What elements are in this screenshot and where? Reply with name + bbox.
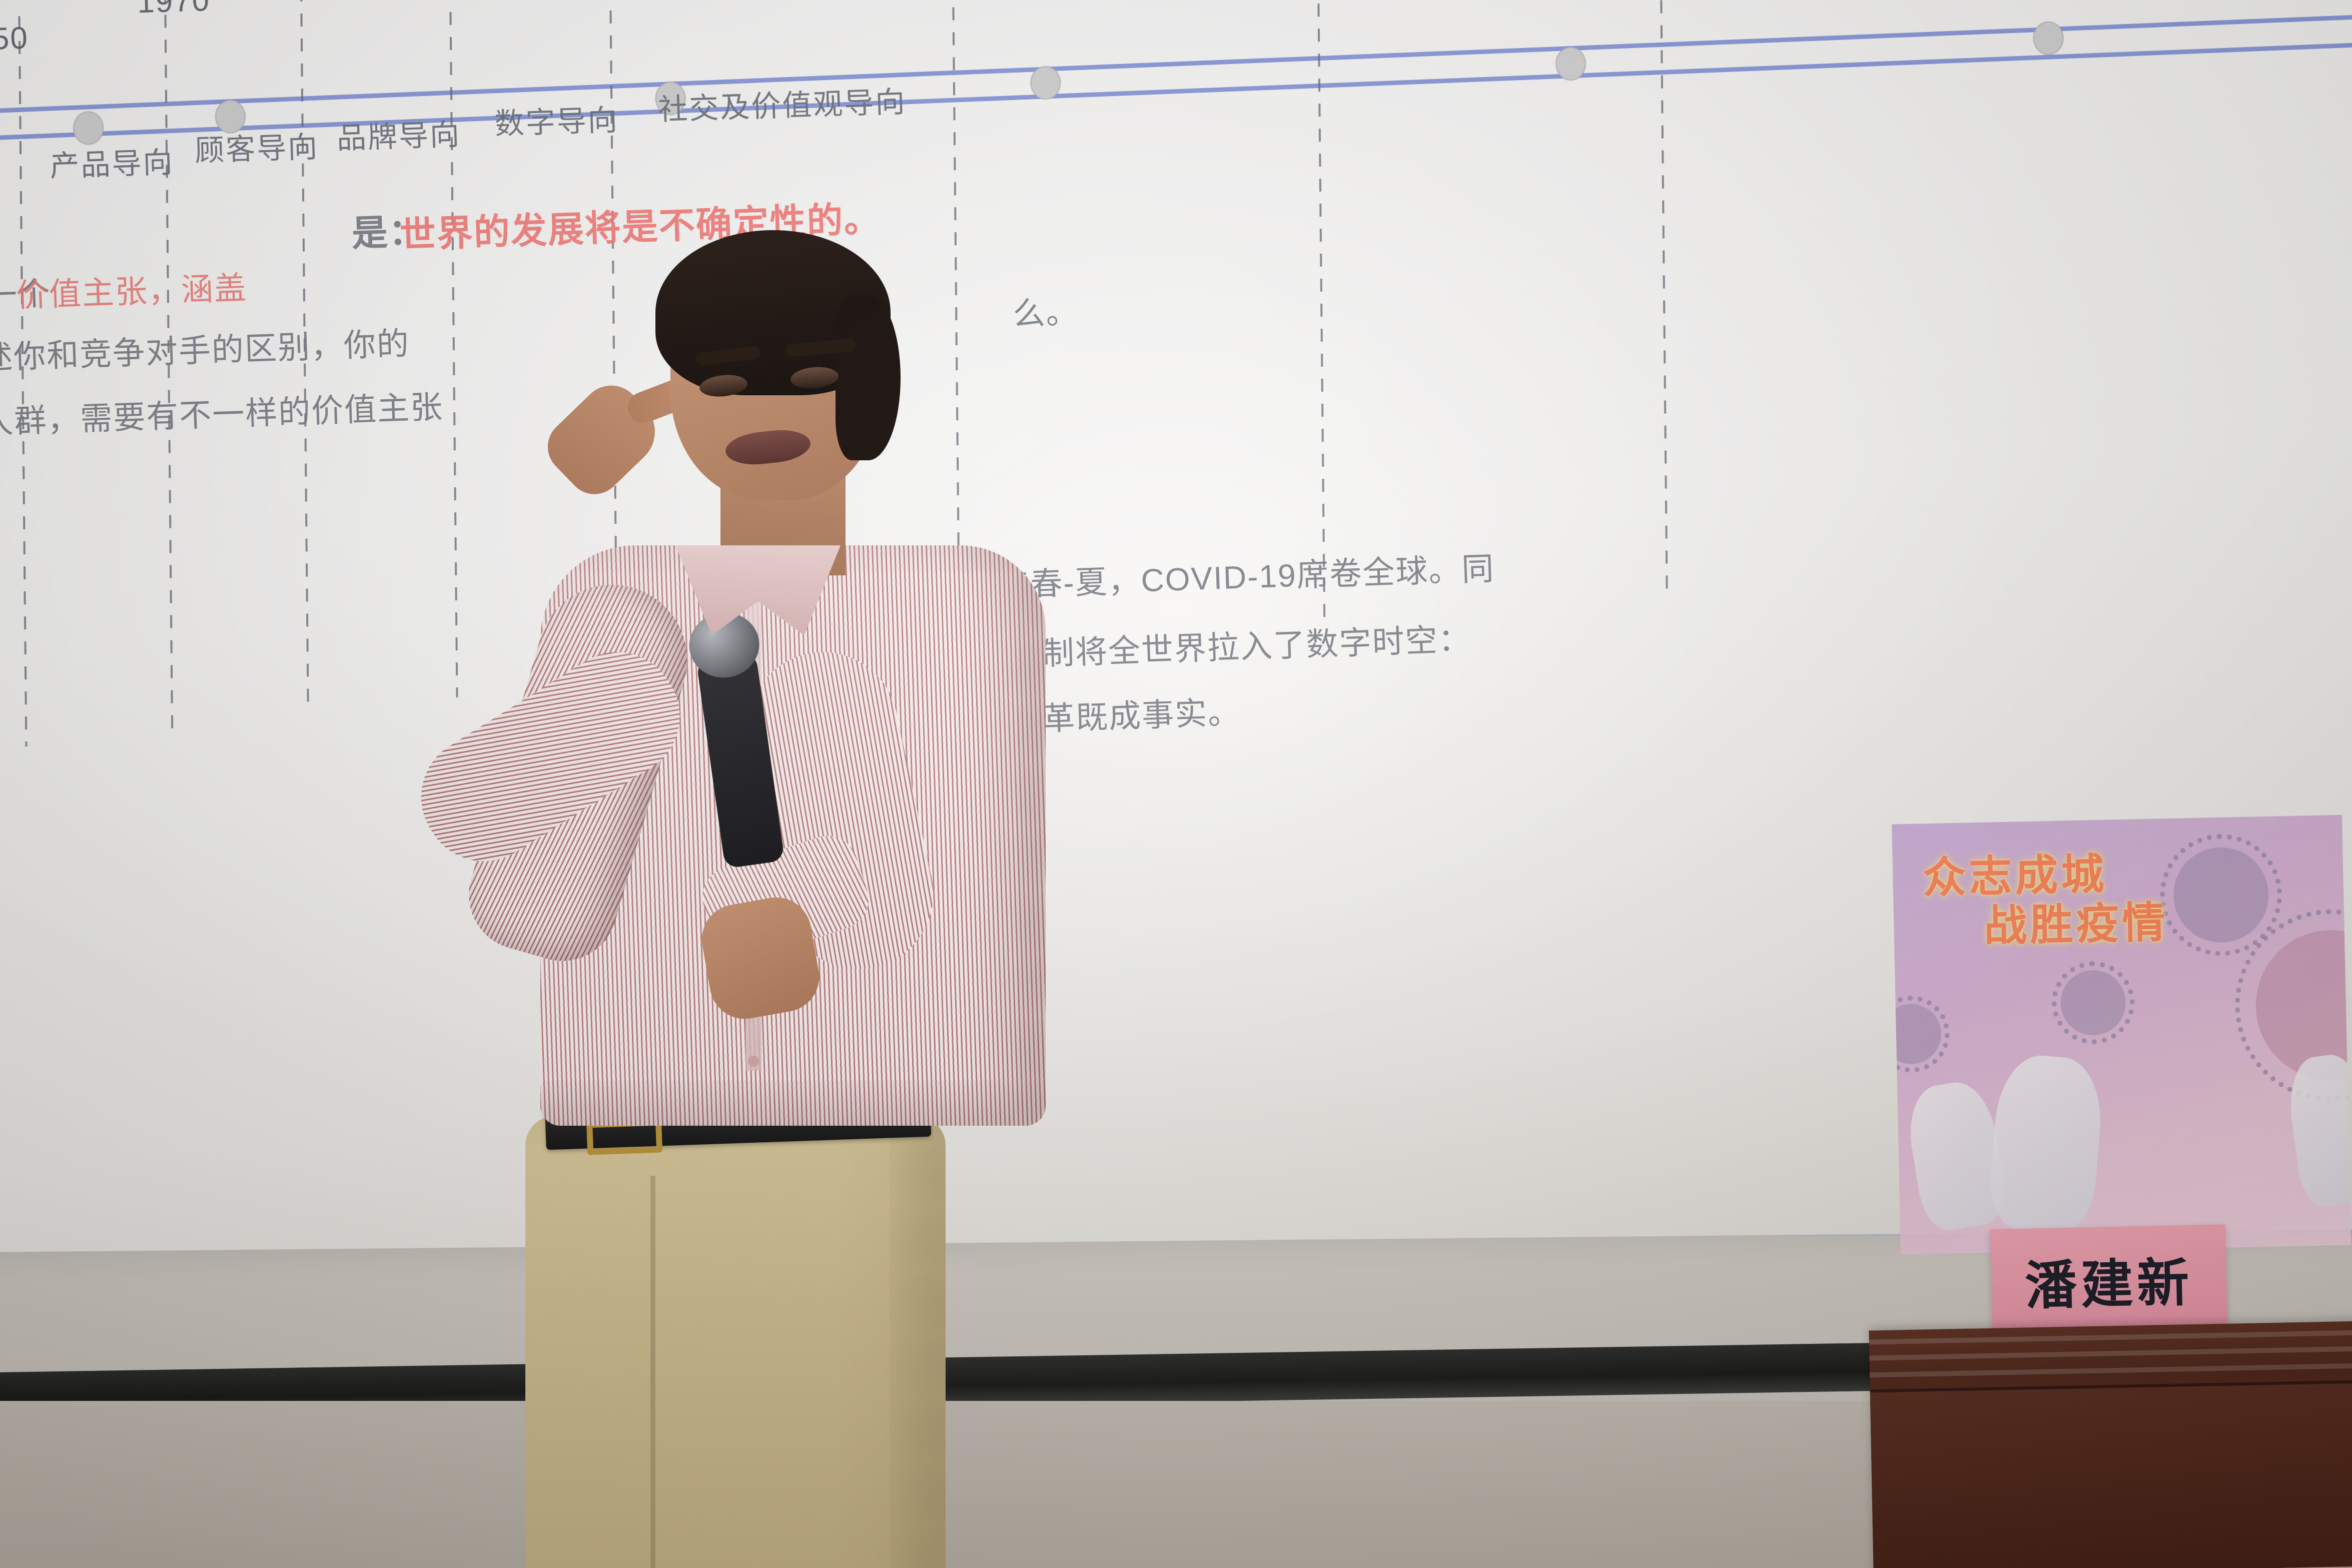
- slide-covid-line-2: 也强制将全世界拉入了数字时空：: [975, 613, 1472, 676]
- poster-title: 众志成城 战胜疫情: [1922, 847, 2244, 953]
- speaker-trousers: [525, 1116, 946, 1568]
- timeline-stage-label-2: 顾客导向: [194, 123, 320, 170]
- timeline-stage-label-1: 产品导向: [49, 138, 175, 185]
- timeline-stage-label-4: 数字导向: [494, 96, 619, 143]
- timeline-node-5: [1555, 47, 1586, 81]
- trouser-crease: [650, 1176, 655, 1568]
- timeline-tick-1: [18, 16, 27, 746]
- timeline-tick-7: [1317, 0, 1325, 624]
- shirt-button: [748, 1056, 759, 1067]
- slide-left-line-1-red: 价值主张，涵盖: [15, 262, 248, 316]
- virus-icon: [1892, 1004, 1942, 1065]
- timeline-node-6: [2033, 22, 2064, 55]
- speaker-hair-side: [836, 295, 901, 460]
- nameplate: 潘建新: [1990, 1224, 2227, 1334]
- poster-title-line-1: 众志成城: [1922, 847, 2243, 903]
- poster-figure: [1986, 1052, 2106, 1235]
- podium: [1869, 1321, 2352, 1568]
- timeline-axis-upper: [0, 13, 2352, 114]
- timeline-year-1970: 1970: [137, 0, 211, 20]
- timeline-year-1950: 1950: [0, 20, 29, 58]
- timeline-stage-label-5: 社交及价值观导向: [657, 78, 907, 129]
- presentation-photo: 1950 1970 产品导向 顾客导向 品牌导向 数字导向 社交及价值观导向 是…: [0, 0, 2352, 1568]
- speaker: [325, 235, 1026, 1568]
- podium-rail: [1869, 1330, 2352, 1345]
- timeline-tick-8: [1660, 0, 1668, 596]
- timeline-stage-label-3: 品牌导向: [336, 111, 461, 157]
- podium-rail: [1869, 1346, 2352, 1361]
- timeline-node-4: [1031, 66, 1061, 100]
- virus-icon: [2060, 970, 2126, 1036]
- timeline-node-1: [73, 112, 104, 145]
- slide-covid-line-1: 0年春-夏，COVID-19席卷全球。同: [978, 543, 1495, 606]
- nameplate-text: 潘建新: [2024, 1240, 2193, 1319]
- podium-rail: [1870, 1363, 2352, 1378]
- podium-face: [1870, 1380, 2352, 1568]
- covid-poster: 众志成城 战胜疫情: [1892, 815, 2351, 1255]
- poster-title-line-2: 战胜疫情: [1923, 897, 2244, 953]
